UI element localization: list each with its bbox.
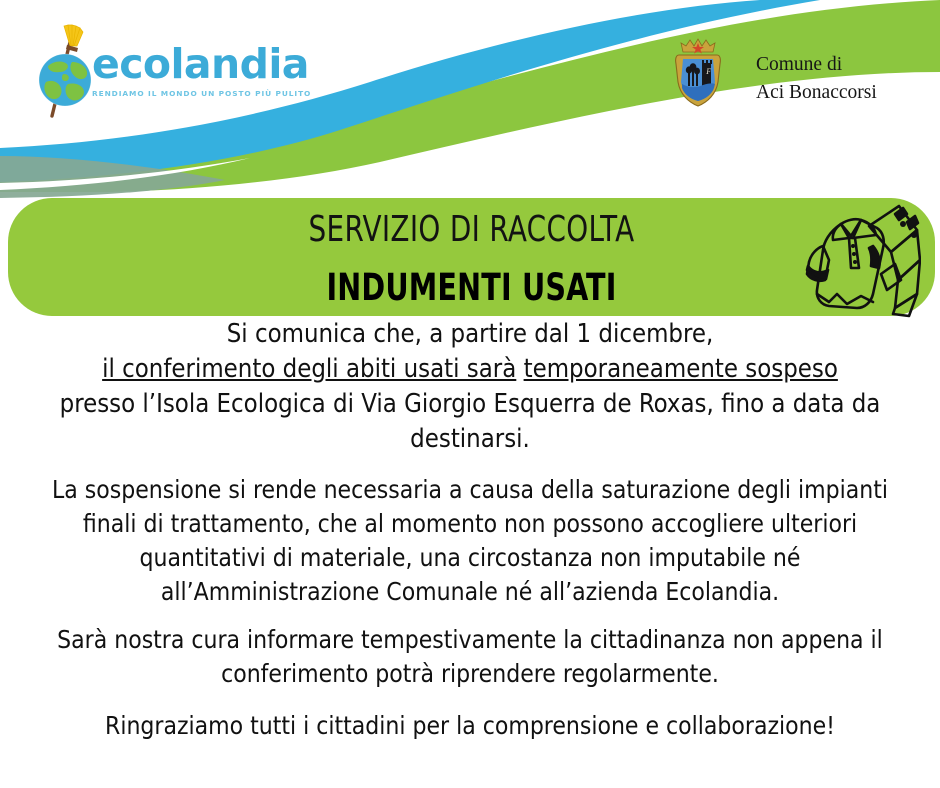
ecolandia-tagline: RENDIAMO IL MONDO UN POSTO PIÙ PULITO — [92, 89, 307, 98]
service-banner: SERVIZIO DI RACCOLTA INDUMENTI USATI — [8, 198, 935, 316]
lead-line-4: destinarsi. — [10, 422, 930, 457]
paragraph-2-line-2: finali di trattamento, che al momento no… — [14, 507, 926, 541]
poster-header: ecolandia RENDIAMO IL MONDO UN POSTO PIÙ… — [0, 0, 940, 200]
lead-line-2-underline-b: temporaneamente sospeso — [524, 354, 838, 384]
ecolandia-logo: ecolandia RENDIAMO IL MONDO UN POSTO PIÙ… — [34, 24, 304, 120]
comune-name: Comune di Aci Bonaccorsi — [756, 51, 877, 106]
spacer-2 — [0, 609, 940, 623]
ecolandia-logo-text: ecolandia RENDIAMO IL MONDO UN POSTO PIÙ… — [92, 44, 307, 98]
lead-line-2-underline-a: il conferimento degli abiti usati sarà — [102, 354, 516, 384]
spacer-3 — [0, 691, 940, 709]
paragraph-2-line-4: all’Amministrazione Comunale né all’azie… — [14, 575, 926, 609]
poster-canvas: ecolandia RENDIAMO IL MONDO UN POSTO PIÙ… — [0, 0, 940, 788]
paragraph-4-line-1: Ringraziamo tutti i cittadini per la com… — [14, 709, 926, 743]
ecolandia-wordmark: ecolandia — [92, 44, 307, 85]
banner-subtitle: INDUMENTI USATI — [73, 266, 870, 309]
lead-line-1: Si comunica che, a partire dal 1 dicembr… — [10, 317, 930, 352]
comune-block: F Comune di Aci Bonaccorsi — [668, 38, 936, 114]
comune-line-1: Comune di — [756, 51, 877, 79]
used-clothes-icon — [799, 202, 921, 320]
svg-text:F: F — [705, 67, 711, 76]
paragraph-3: Sarà nostra cura informare tempestivamen… — [0, 623, 940, 691]
paragraph-3-line-1: Sarà nostra cura informare tempestivamen… — [14, 623, 926, 657]
lead-paragraph: Si comunica che, a partire dal 1 dicembr… — [0, 317, 940, 457]
lead-line-3: presso l’Isola Ecologica di Via Giorgio … — [10, 387, 930, 422]
paragraph-2-line-3: quantitativi di materiale, una circostan… — [14, 541, 926, 575]
spacer-1 — [0, 457, 940, 473]
paragraph-2: La sospensione si rende necessaria a cau… — [0, 473, 940, 609]
paragraph-2-line-1: La sospensione si rende necessaria a cau… — [14, 473, 926, 507]
aci-bonaccorsi-coat-of-arms-icon: F — [672, 38, 724, 108]
globe-broom-logo-icon — [34, 24, 96, 120]
paragraph-3-line-2: conferimento potrà riprendere regolarmen… — [14, 657, 926, 691]
paragraph-4: Ringraziamo tutti i cittadini per la com… — [0, 709, 940, 743]
poster-body: Si comunica che, a partire dal 1 dicembr… — [0, 317, 940, 743]
lead-line-2: il conferimento degli abiti usati sarà t… — [10, 352, 930, 387]
comune-line-2: Aci Bonaccorsi — [756, 79, 877, 107]
banner-title: SERVIZIO DI RACCOLTA — [73, 209, 870, 250]
